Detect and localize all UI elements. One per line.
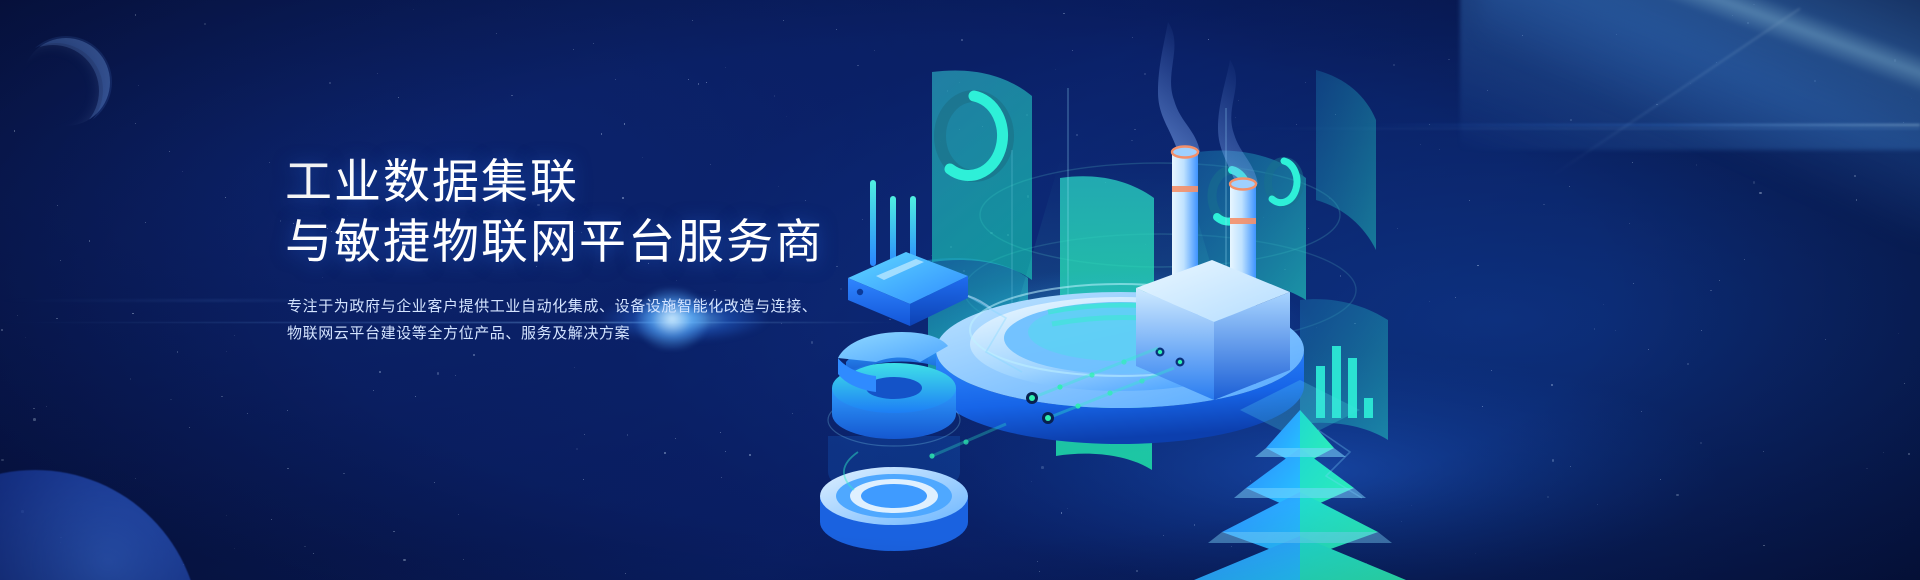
hero-copy: 工业数据集联 与敏捷物联网平台服务商 专注于为政府与企业客户提供工业自动化集成、… (285, 152, 905, 347)
pyramid-tier2-left (1222, 492, 1300, 560)
cable-pie-to-dome (929, 424, 1006, 459)
planet-arc (0, 470, 200, 580)
pie-cylinder (820, 332, 968, 551)
smoke-plume-1 (1158, 22, 1200, 152)
fiber-cables (844, 296, 1362, 498)
router-antenna-3 (910, 196, 916, 268)
ring-platform-top (820, 467, 968, 525)
panel-right (1198, 150, 1306, 300)
stepped-pyramid (1194, 380, 1406, 580)
dome-light-beam (1010, 160, 1230, 330)
dome-inner-ring (970, 297, 1270, 391)
panel-left-lower (928, 258, 1028, 400)
factory-box-right (1214, 292, 1290, 400)
pie-cylinder-top (832, 363, 956, 413)
donut-gauge-small-pair (1212, 161, 1300, 222)
trace-pie (844, 452, 858, 490)
stack-2 (1230, 184, 1256, 384)
dome-glow-core (1028, 303, 1212, 361)
router-right (910, 276, 968, 326)
ring-platform (820, 467, 968, 551)
smoke-plume-2 (1218, 60, 1258, 184)
light-streak-primary (1360, 124, 1920, 126)
stack-2-band (1230, 218, 1256, 224)
floor-glow (920, 350, 1720, 580)
stack-1 (1172, 152, 1198, 370)
isometric-illustration (760, 0, 1920, 580)
pyramid-tier1-left (1194, 536, 1300, 580)
cable-dome-to-factory (1026, 348, 1158, 404)
dome-halo-ring (970, 284, 1270, 376)
subtitle-line-2: 物联网云平台建设等全方位产品、服务及解决方案 (287, 321, 905, 347)
ring-platform-mid (836, 474, 952, 518)
light-beam-main (1460, 0, 1920, 150)
central-glow-dome (924, 160, 1316, 444)
hero-banner: 工业数据集联 与敏捷物联网平台服务商 专注于为政府与企业客户提供工业自动化集成、… (0, 0, 1920, 580)
donut-gauge-large (940, 96, 1008, 176)
panel-far-right (1316, 70, 1376, 250)
trace-left (968, 296, 1022, 372)
dome-core (1004, 302, 1236, 374)
pyramid-tier4-left (1266, 410, 1300, 466)
pyramid-tier4-right (1300, 410, 1334, 466)
dome-rim (936, 292, 1304, 408)
hero-subtitle: 专注于为政府与企业客户提供工业自动化集成、设备设施智能化改造与连接、 物联网云平… (287, 294, 905, 347)
light-beam-soft (1480, 0, 1920, 240)
ring-platform-side (820, 496, 968, 551)
headline-line-2: 与敏捷物联网平台服务商 (285, 212, 905, 272)
pyramid-tier3-left (1246, 448, 1300, 512)
stack-1-band (1172, 186, 1198, 192)
dome-body (936, 350, 1304, 444)
panel-center (1060, 176, 1154, 330)
pie-cylinder-hole (866, 377, 922, 399)
trace-right (1318, 430, 1362, 498)
ring-platform-core (861, 484, 927, 508)
pyramid-tier3-right (1300, 448, 1354, 512)
pie-cylinder-side (832, 388, 956, 439)
panel-center-lower (1056, 320, 1152, 470)
factory-box-left (1136, 288, 1214, 400)
pyramid-tier2-right (1300, 492, 1378, 560)
factory-box-top (1136, 260, 1290, 322)
headline-line-1: 工业数据集联 (285, 155, 579, 208)
cable-dome-to-factory-2 (1042, 368, 1174, 424)
page-title: 工业数据集联 与敏捷物联网平台服务商 (285, 152, 905, 272)
crescent-moon-icon (22, 38, 110, 126)
data-tower-panels (928, 70, 1388, 470)
bar-chart-panel (1300, 299, 1388, 440)
light-streak-diagonal (1551, 8, 1800, 177)
factory-smokestacks (1136, 22, 1290, 400)
light-streak-secondary (1220, 128, 1920, 129)
subtitle-line-1: 专注于为政府与企业客户提供工业自动化集成、设备设施智能化改造与连接、 (287, 294, 905, 320)
ring-platform-inner (850, 479, 938, 513)
panel-left (932, 70, 1032, 280)
pyramid-tier1-right (1300, 536, 1406, 580)
router-cable (968, 296, 1028, 346)
